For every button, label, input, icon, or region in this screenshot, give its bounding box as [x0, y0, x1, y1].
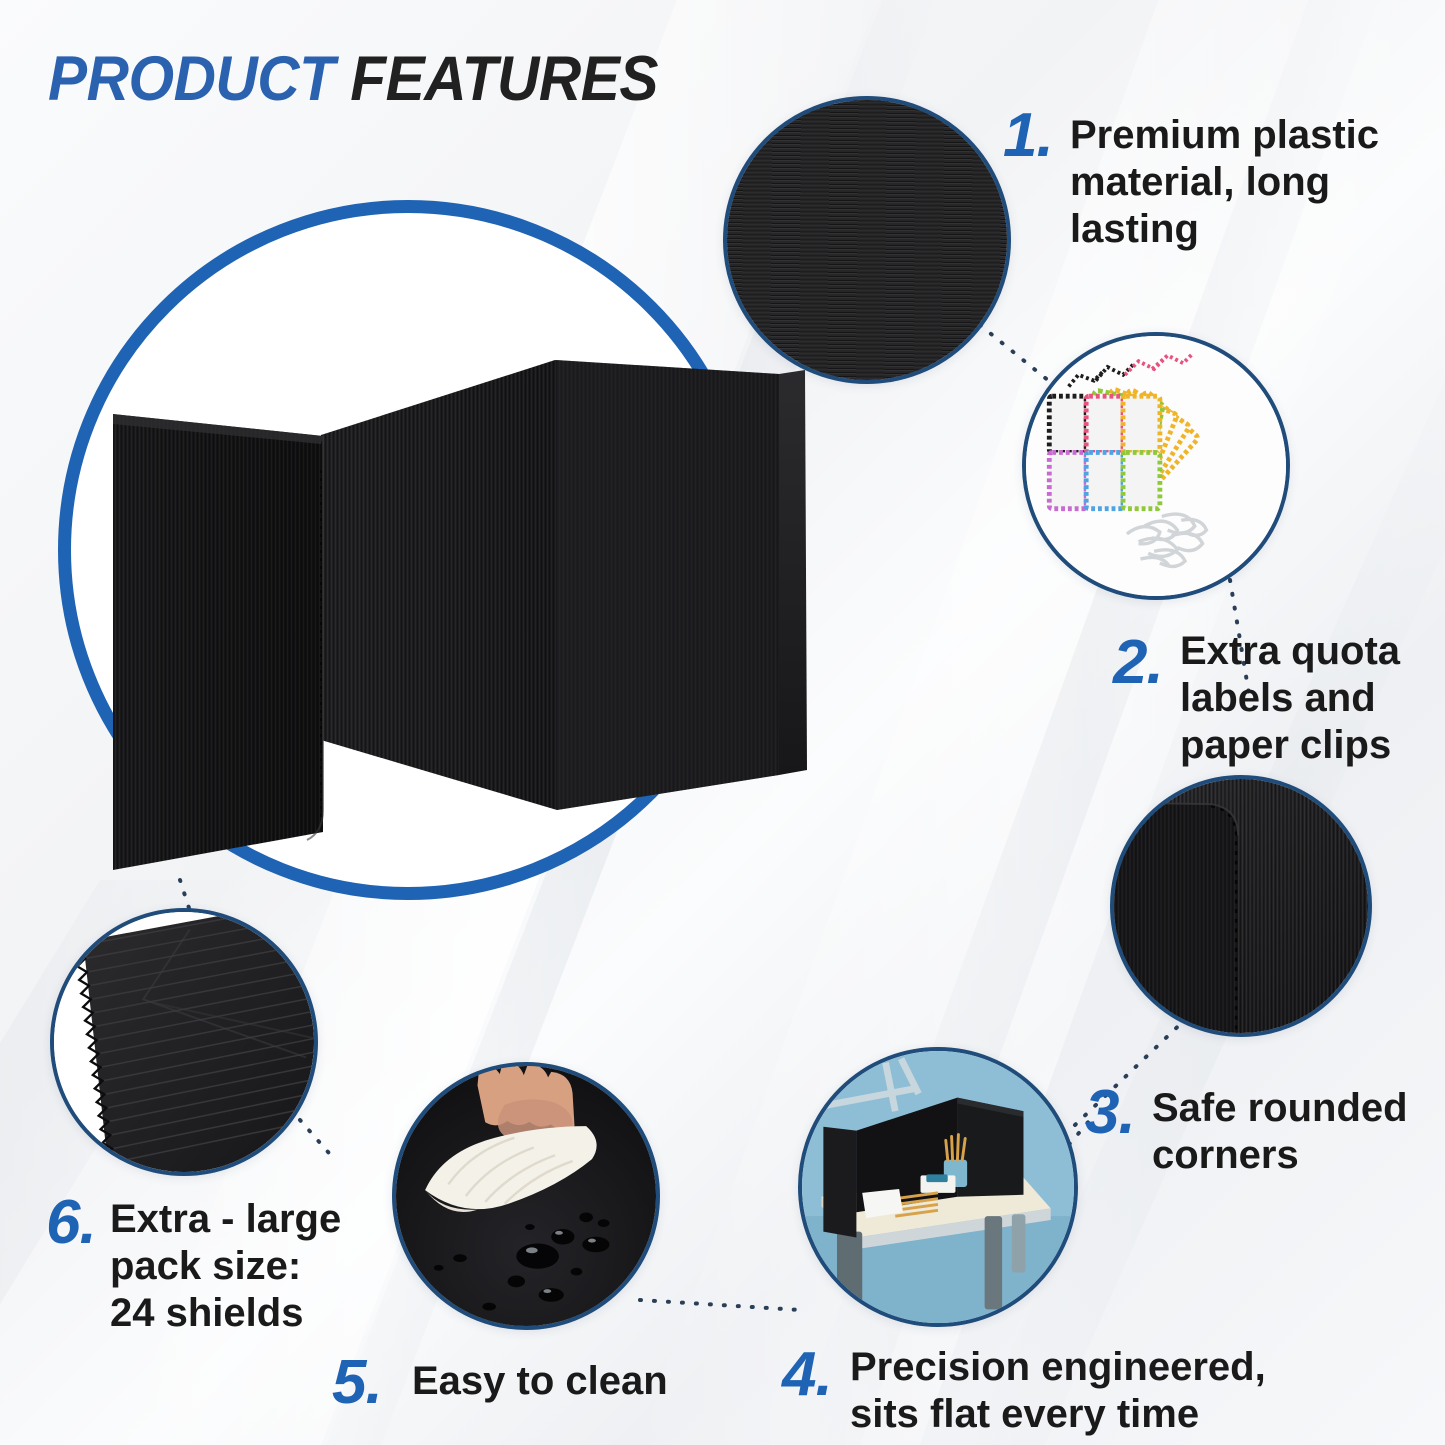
rounded-corner-closeup [1114, 779, 1368, 1033]
feature-1-number: 1. [1003, 105, 1053, 167]
shield-on-school-desk-photo [802, 1051, 1074, 1323]
labels-and-clips-illustration [1026, 336, 1286, 596]
feature-1-image-circle [723, 96, 1011, 384]
infographic-canvas: PRODUCT FEATURES [0, 0, 1445, 1445]
feature-3-text: Safe rounded corners [1152, 1085, 1442, 1179]
feature-5-number: 5. [332, 1352, 382, 1414]
feature-1-line-3: lasting [1070, 206, 1420, 253]
feature-4-line-2: sits flat every time [850, 1391, 1410, 1438]
feature-2-text: Extra quota labels and paper clips [1180, 628, 1445, 770]
feature-6-line-2: pack size: [110, 1243, 440, 1290]
feature-4-number: 4. [782, 1344, 832, 1406]
feature-3-number: 3. [1085, 1082, 1135, 1144]
feature-2-line-1: Extra quota [1180, 628, 1445, 675]
feature-4-line-1: Precision engineered, [850, 1344, 1410, 1391]
feature-4-text: Precision engineered, sits flat every ti… [850, 1344, 1410, 1438]
page-title: PRODUCT FEATURES [48, 48, 658, 111]
feature-2-image-circle [1022, 332, 1290, 600]
premium-plastic-texture [727, 100, 1007, 380]
stack-of-24-shields [54, 912, 314, 1172]
feature-1-line-2: material, long [1070, 159, 1420, 206]
page-title-word-2: FEATURES [350, 44, 658, 114]
feature-1-line-1: Premium plastic [1070, 112, 1420, 159]
tri-fold-privacy-shield [95, 340, 815, 940]
feature-3-line-1: Safe rounded [1152, 1085, 1442, 1132]
feature-6-line-3: 24 shields [110, 1290, 440, 1337]
feature-6-line-1: Extra - large [110, 1196, 440, 1243]
feature-5-line-1: Easy to clean [412, 1358, 742, 1405]
feature-1-text: Premium plastic material, long lasting [1070, 112, 1420, 254]
page-title-word-1: PRODUCT [48, 44, 334, 114]
feature-4-image-circle [798, 1047, 1078, 1327]
feature-6-image-circle [50, 908, 318, 1176]
feature-2-number: 2. [1113, 632, 1163, 694]
feature-5-text: Easy to clean [412, 1358, 742, 1405]
feature-2-line-2: labels and [1180, 675, 1445, 722]
feature-6-number: 6. [46, 1192, 96, 1254]
feature-6-text: Extra - large pack size: 24 shields [110, 1196, 440, 1338]
feature-3-line-2: corners [1152, 1132, 1442, 1179]
feature-3-image-circle [1110, 775, 1372, 1037]
feature-2-line-3: paper clips [1180, 722, 1445, 769]
